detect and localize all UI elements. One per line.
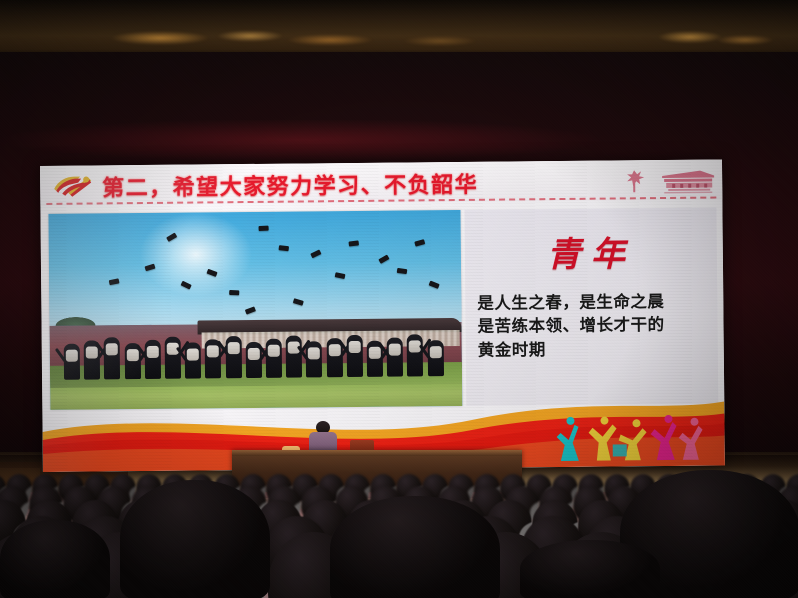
graduate-figure — [427, 340, 443, 376]
graduate-figure — [144, 340, 160, 379]
panel-line-2: 是苦练本领、增长才干的 — [477, 313, 715, 339]
slide-canvas: 第二，希望大家努力学习、不负韶华 — [40, 159, 725, 472]
ceiling-spotlights-icon — [0, 26, 798, 52]
panel-line-1: 是人生之春，是生命之晨 — [477, 290, 715, 316]
graduate-figure — [165, 337, 181, 379]
photo-graduates — [64, 328, 452, 380]
graduate-figure — [407, 334, 423, 376]
graduate-figure — [266, 339, 282, 378]
graduation-cap-toss-photo — [48, 210, 462, 410]
graduate-figure — [286, 335, 302, 377]
podium-table-top — [232, 450, 522, 456]
slide-text-panel: 青年 是人生之春，是生命之晨 是苦练本领、增长才干的 黄金时期 — [464, 208, 718, 406]
student-audience — [0, 470, 798, 598]
backdrop-glow — [0, 120, 798, 160]
graduation-cap-icon — [259, 226, 269, 231]
photo-scene: 第二，希望大家努力学习、不负韶华 — [0, 0, 798, 598]
panel-heading: 青年 — [465, 226, 717, 277]
graduation-cap-icon — [229, 290, 239, 295]
graduate-figure — [104, 337, 120, 379]
tiananmen-gate-icon — [622, 164, 716, 197]
graduate-figure — [346, 335, 362, 377]
graduate-figure — [185, 342, 201, 378]
graduate-figure — [387, 338, 403, 377]
graduate-figure — [64, 344, 80, 380]
graduate-figure — [306, 341, 322, 377]
photo-sun-haze — [120, 210, 271, 315]
projection-screen: 第二，希望大家努力学习、不负韶华 — [40, 159, 725, 472]
foreground-audience-silhouette — [120, 480, 270, 598]
graduation-cap-icon — [279, 245, 289, 251]
cpc-party-emblem-icon — [50, 171, 94, 199]
foreground-audience-silhouette — [520, 540, 660, 598]
panel-line-3: 黄金时期 — [478, 336, 716, 362]
graduate-figure — [225, 336, 241, 378]
foreground-audience-silhouette — [0, 520, 110, 598]
foreground-audience-silhouette — [330, 496, 500, 598]
dancing-silhouettes-icon — [548, 414, 708, 464]
panel-body-text: 是人生之春，是生命之晨 是苦练本领、增长才干的 黄金时期 — [477, 290, 716, 363]
